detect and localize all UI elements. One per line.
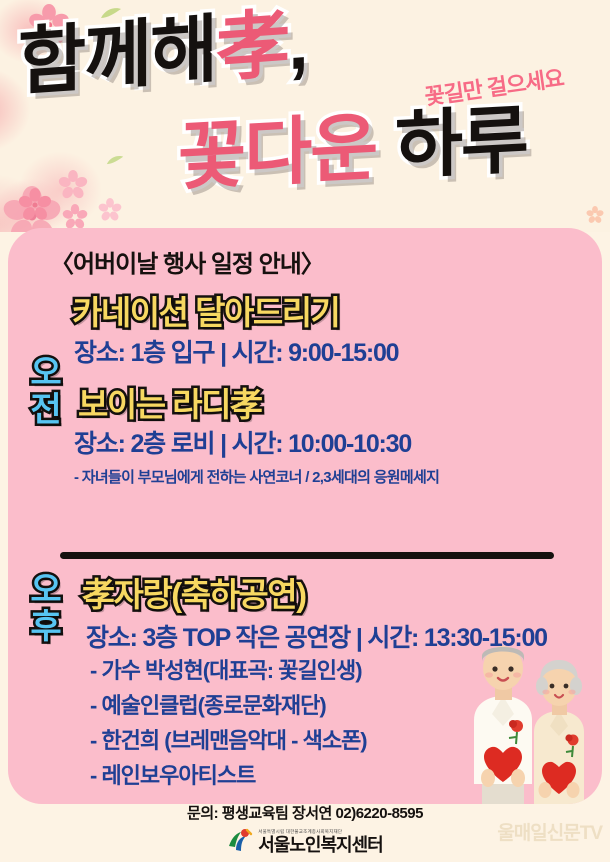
blossom-flower-icon [586,206,604,224]
event-info-2: 장소: 2층 로비 | 시간: 10:00-10:30 [74,424,411,460]
logo-superscript: 서울특별시립 대한불교조계종사회복지재단 [258,830,382,835]
grandmother-figure [534,660,584,804]
event-title-1: 카네이션 달아드리기 [72,286,339,334]
logo-name: 서울노인복지센터 [258,836,382,854]
event-bullet-3-1: - 가수 박성현(대표곡: 꽃길인생) [90,653,362,685]
poster-title-line-1: 함께해孝, [18,6,307,100]
contact-line: 문의: 평생교육팀 장서연 02)6220-8595 [0,802,610,823]
section-divider [60,552,554,559]
blossom-flower-icon [18,188,52,222]
event-title-3: 孝자랑(축하공연) [82,568,306,616]
logo-mark-icon [227,828,253,854]
title-text-black: 함께해 [18,7,216,104]
schedule-card: 〈어버이날 행사 일정 안내〉 오 전 오 후 카네이션 달아드리기 장소: 1… [8,228,602,804]
period-morning-char-1: 오 [24,355,68,392]
elderly-couple-illustration [462,628,598,804]
poster-header: 함께해孝, 꽃다운 하루 꽃길만 걸으세요 [0,0,610,232]
organization-logo: 서울특별시립 대한불교조계종사회복지재단 서울노인복지센터 [0,828,610,854]
leaf-icon [106,154,124,166]
period-afternoon-char-1: 오 [24,572,68,609]
period-label-afternoon: 오 후 [24,572,68,645]
event-bullet-3-3: - 한건희 (브레맨음악대 - 색소폰) [90,723,367,755]
period-morning-char-2: 전 [24,392,68,429]
event-bullet-3-4: - 레인보우아티스트 [90,758,255,790]
grandfather-figure [474,646,532,804]
blossom-flower-icon [62,204,88,230]
title-text-day: 하루 [395,98,527,188]
period-label-morning: 오 전 [24,355,68,428]
event-info-1: 장소: 1층 입구 | 시간: 9:00-15:00 [74,333,398,369]
period-afternoon-char-2: 후 [24,609,68,646]
title-text-hyo: 孝 [216,2,288,90]
schedule-heading: 〈어버이날 행사 일정 안내〉 [50,244,324,279]
event-poster: 함께해孝, 꽃다운 하루 꽃길만 걸으세요 〈어버이날 행사 일정 안내〉 오 … [0,0,610,862]
blossom-flower-icon [58,170,88,200]
event-sub-2: - 자녀들이 부모님에게 전하는 사연코너 / 2,3세대의 응원메세지 [74,466,439,487]
title-text-flowerlike: 꽃다운 [178,106,376,199]
blossom-flower-icon [98,198,122,222]
cherry-blossom-wash-secondary-icon [0,150,190,232]
poster-title-line-2: 꽃다운 하루 [178,103,527,195]
blossom-flower-icon [2,186,62,232]
logo-text: 서울특별시립 대한불교조계종사회복지재단 서울노인복지센터 [258,830,382,855]
event-bullet-3-2: - 예술인클럽(종로문화재단) [90,688,326,720]
event-title-2: 보이는 라디孝 [78,378,261,426]
title-comma: , [288,1,307,85]
